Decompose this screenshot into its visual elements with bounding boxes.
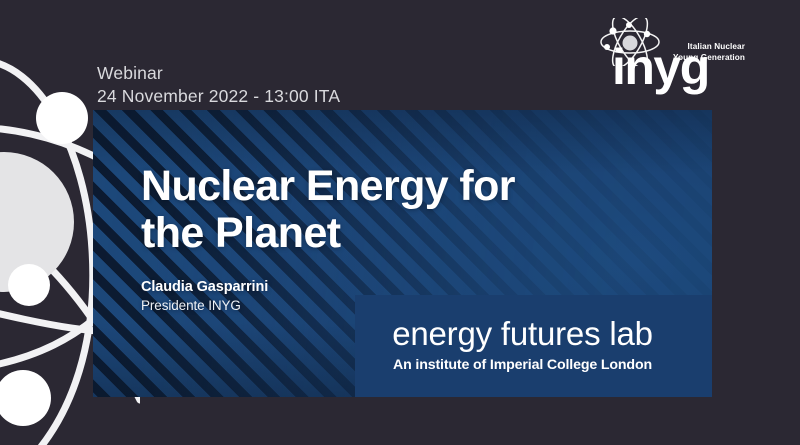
- webinar-banner: Nuclear Energy for the Planet Claudia Ga…: [93, 110, 712, 397]
- atom-electron-middle: [8, 264, 50, 306]
- speaker-role: Presidente INYG: [141, 297, 268, 315]
- atom-nucleus: [0, 152, 74, 292]
- orbit-path-1: [0, 60, 93, 445]
- institution-logo-panel: energy futures lab An institute of Imper…: [355, 295, 712, 397]
- inyg-tagline-line1: Italian Nuclear: [667, 42, 745, 53]
- inyg-tagline-line2: Young Generation: [667, 53, 745, 64]
- event-type-label: Webinar: [97, 62, 340, 85]
- speaker-block: Claudia Gasparrini Presidente INYG: [141, 278, 268, 315]
- inyg-tagline: Italian Nuclear Young Generation: [667, 42, 745, 63]
- speaker-name: Claudia Gasparrini: [141, 278, 268, 297]
- institution-subtitle: An institute of Imperial College London: [355, 358, 690, 372]
- title-line-1: Nuclear Energy for: [141, 163, 515, 210]
- title-line-2: the Planet: [141, 210, 515, 257]
- inyg-logo: inyg Italian Nuclear Young Generation: [592, 16, 752, 92]
- event-datetime-label: 24 November 2022 - 13:00 ITA: [97, 85, 340, 108]
- atom-electron-top: [36, 92, 88, 144]
- webinar-promo-card: Webinar 24 November 2022 - 13:00 ITA iny…: [0, 0, 800, 445]
- page-title: Nuclear Energy for the Planet: [141, 163, 515, 256]
- header-meta: Webinar 24 November 2022 - 13:00 ITA: [97, 62, 340, 108]
- atom-electron-bottom: [0, 370, 51, 426]
- institution-name: energy futures lab: [355, 317, 690, 350]
